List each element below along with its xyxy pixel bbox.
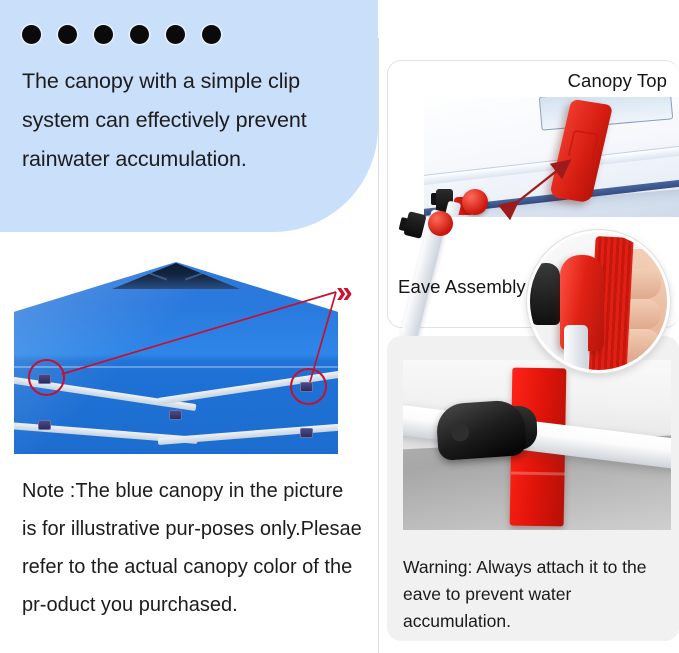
strap-attachment-photo: [403, 360, 671, 530]
headline-panel: The canopy with a simple clip system can…: [0, 0, 378, 232]
bullet-dot-icon: [22, 25, 41, 44]
pole-black-clamp: [403, 211, 426, 239]
right-column: Canopy Top: [379, 0, 679, 653]
bullet-dot-icon: [94, 25, 113, 44]
canopy-clip-point: [38, 420, 51, 430]
infographic-page: The canopy with a simple clip system can…: [0, 0, 679, 653]
bullet-dot-icon: [202, 25, 221, 44]
canopy-top-label: Canopy Top: [568, 70, 667, 92]
pole-red-knob: [428, 211, 453, 236]
bullet-dots-row: [22, 25, 221, 44]
white-pole: [564, 325, 588, 373]
hand-clip-inset-photo: [527, 230, 670, 373]
highlight-circle-right: [290, 368, 327, 405]
note-text: Note :The blue canopy in the picture is …: [22, 472, 362, 624]
canopy-photo: [14, 262, 338, 454]
canopy-clip-point: [169, 410, 182, 420]
left-column: The canopy with a simple clip system can…: [0, 0, 378, 653]
eave-assembly-label: Eave Assembly: [398, 276, 526, 298]
black-hook: [435, 399, 527, 461]
red-knob: [462, 189, 488, 215]
highlight-circle-left: [28, 359, 65, 396]
canopy-top-photo: [424, 97, 679, 217]
canopy-illustration: [14, 262, 338, 454]
canopy-seam-line: [14, 366, 338, 368]
canopy-clip-point: [300, 428, 313, 438]
warning-card: Warning: Always attach it to the eave to…: [387, 336, 679, 641]
bullet-dot-icon: [166, 25, 185, 44]
bullet-dot-icon: [130, 25, 149, 44]
warning-text: Warning: Always attach it to the eave to…: [403, 554, 665, 635]
headline-text: The canopy with a simple clip system can…: [22, 62, 362, 179]
black-clamp: [532, 263, 560, 325]
bullet-dot-icon: [58, 25, 77, 44]
chevron-arrow-icon: ››: [336, 276, 349, 307]
